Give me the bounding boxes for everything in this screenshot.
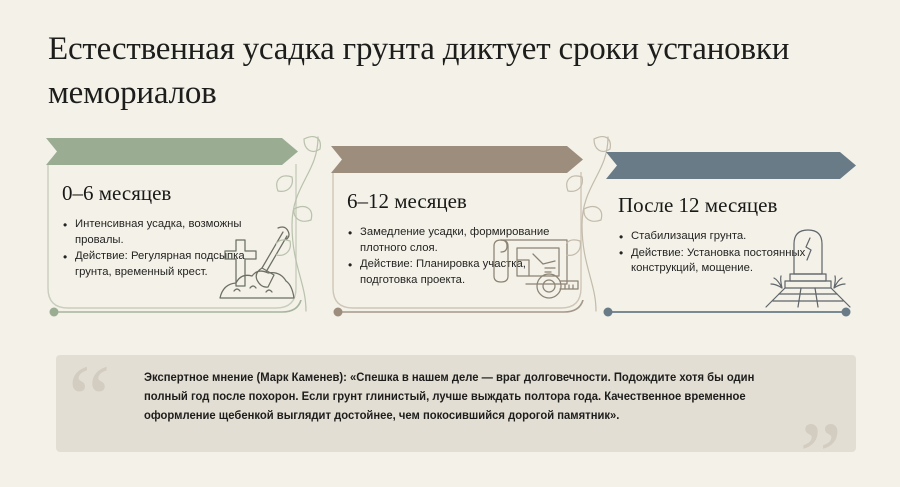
stage-heading-0-6: 0–6 месяцев	[62, 181, 282, 206]
infographic-canvas: Естественная усадка грунта диктует сроки…	[0, 0, 900, 487]
page-title: Естественная усадка грунта диктует сроки…	[48, 28, 808, 116]
stage-heading-after-12: После 12 месяцев	[618, 193, 840, 218]
timeline-rail-6-12	[328, 300, 596, 324]
bullet-item: Замедление усадки, формирование плотного…	[347, 225, 567, 256]
stage-banner-0-6	[46, 138, 298, 165]
stage-body-6-12: 6–12 месяцев Замедление усадки, формиров…	[331, 173, 583, 289]
timeline-rail-0-6	[44, 300, 314, 324]
bullet-item: Действие: Планировка участка, подготовка…	[347, 257, 567, 288]
stage-heading-6-12: 6–12 месяцев	[347, 189, 567, 214]
stage-card-6-12: 6–12 месяцев Замедление усадки, формиров…	[331, 146, 583, 310]
stage-body-0-6: 0–6 месяцев Интенсивная усадка, возможны…	[46, 165, 298, 281]
timeline-rail-after-12	[598, 300, 856, 324]
stage-banner-after-12	[606, 152, 856, 179]
stage-card-0-6: 0–6 месяцев Интенсивная усадка, возможны…	[46, 138, 298, 310]
bullet-item: Интенсивная усадка, возможны провалы.	[62, 217, 282, 248]
quote-text: Экспертное мнение (Марк Каменев): «Спешк…	[144, 369, 775, 425]
stage-card-after-12: После 12 месяцев Стабилизация грунта. Де…	[606, 152, 856, 310]
stage-bullets-6-12: Замедление усадки, формирование плотного…	[347, 225, 567, 288]
bullet-item: Действие: Установка постоянных конструкц…	[618, 246, 840, 277]
quote-open-icon: “	[68, 355, 111, 447]
bullet-item: Действие: Регулярная подсыпка грунта, вр…	[62, 249, 282, 280]
quote-close-icon: ”	[799, 408, 842, 452]
stage-bullets-after-12: Стабилизация грунта. Действие: Установка…	[618, 229, 840, 277]
stage-body-after-12: После 12 месяцев Стабилизация грунта. Де…	[606, 179, 856, 278]
bullet-item: Стабилизация грунта.	[618, 229, 840, 245]
expert-quote-box: “ ” Экспертное мнение (Марк Каменев): «С…	[56, 355, 856, 452]
stage-banner-6-12	[331, 146, 583, 173]
stage-bullets-0-6: Интенсивная усадка, возможны провалы. Де…	[62, 217, 282, 280]
